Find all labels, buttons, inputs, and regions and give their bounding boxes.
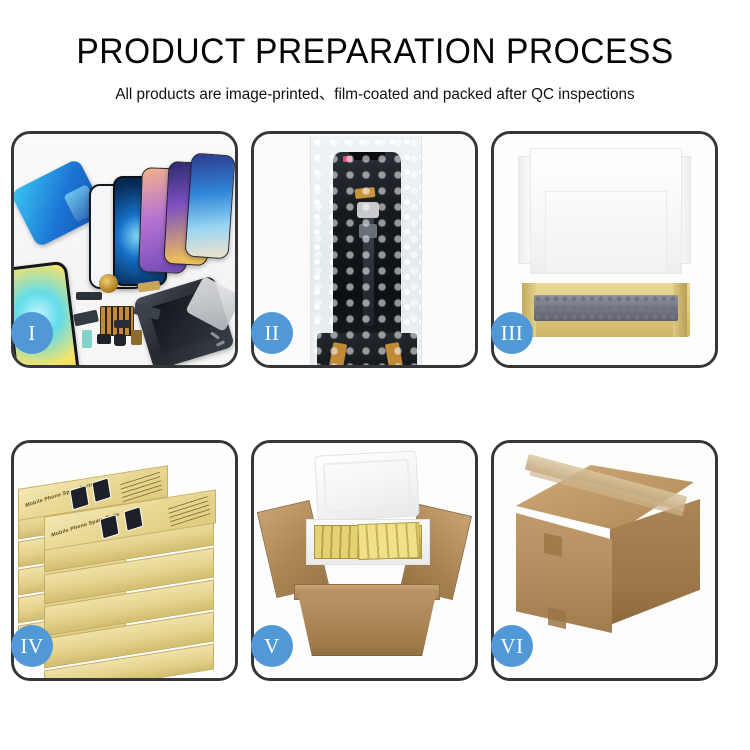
step-panel-6: VI <box>491 440 718 681</box>
box-checklist-lines-back <box>120 469 163 503</box>
copper-contact-right <box>385 342 403 365</box>
step-badge-2: II <box>251 312 293 354</box>
blue-wave-phone-screen <box>184 153 235 260</box>
styrofoam-lid <box>314 450 419 521</box>
product-preparation-infographic: PRODUCT PREPARATION PROCESS All products… <box>0 0 750 750</box>
bubble-wrap-bag <box>310 136 422 365</box>
step-badge-1: I <box>11 312 53 354</box>
page-title: PRODUCT PREPARATION PROCESS <box>15 34 735 71</box>
step-badge-6: VI <box>491 625 533 667</box>
process-steps-grid: I II <box>11 131 739 681</box>
box-phone-image-4 <box>123 506 143 532</box>
vibrator-part <box>114 334 126 346</box>
flex-cable-top <box>137 281 160 293</box>
step-badge-3: III <box>491 312 533 354</box>
box-phone-image-3 <box>99 514 119 540</box>
step-panel-3: III <box>491 131 718 368</box>
white-foam-lid <box>530 148 682 274</box>
flex-cable-left <box>73 310 99 327</box>
step-badge-4: IV <box>11 625 53 667</box>
step-panel-1: I <box>11 131 238 368</box>
charging-port-part <box>131 330 142 345</box>
flex-connector-chip <box>359 224 377 238</box>
step-panel-4: Mobile Phone Spare Parts Mobile Phone Sp… <box>11 440 238 681</box>
carton-body <box>298 594 436 656</box>
battery-part <box>82 330 92 348</box>
flex-connector-pad <box>357 202 379 218</box>
step-badge-5: V <box>251 625 293 667</box>
bubble-wrapped-units <box>534 295 678 321</box>
speaker-part <box>97 334 111 344</box>
page-subtitle: All products are image-printed、film-coat… <box>6 82 745 104</box>
box-phone-image-1 <box>69 485 89 511</box>
box-checklist-lines-front <box>168 493 211 527</box>
lcd-bottom-board <box>317 333 417 365</box>
sim-tray-part <box>76 292 102 300</box>
step-panel-2: II <box>251 131 478 368</box>
pink-label-sticker <box>343 156 352 162</box>
step-panel-5: V <box>251 440 478 681</box>
box-phone-image-2 <box>91 477 111 503</box>
carton-tape-tab-upper <box>544 533 562 557</box>
camera-module-part <box>114 320 130 328</box>
copper-flex-tab <box>355 187 376 199</box>
copper-contact-left <box>329 342 347 365</box>
carton-tape-tab-lower <box>548 607 566 629</box>
packed-yellow-boxes-row2 <box>357 522 420 560</box>
wireless-charging-coil <box>99 274 118 293</box>
header: PRODUCT PREPARATION PROCESS All products… <box>0 0 750 104</box>
